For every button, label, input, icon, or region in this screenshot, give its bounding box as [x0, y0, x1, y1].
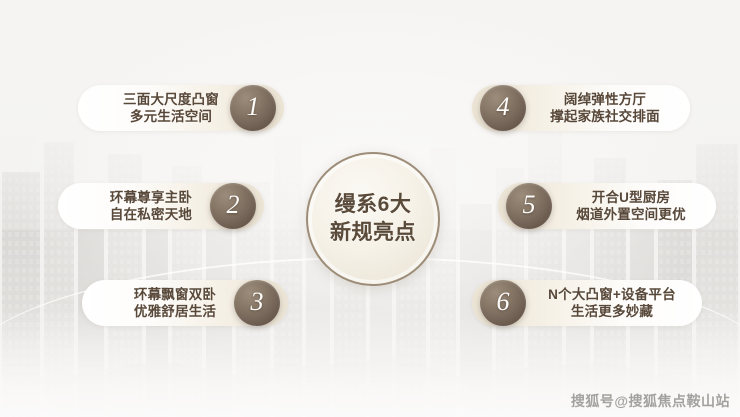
feature-number-5: 5 [523, 192, 536, 220]
feature-line1-6: N个大凸窗+设备平台 [548, 286, 676, 303]
feature-text-2: 环幕尊享主卧 自在私密天地 [84, 183, 218, 229]
feature-line2-4: 撑起家族社交排面 [550, 108, 660, 125]
feature-item-1: 三面大尺度凸窗 多元生活空间 1 [78, 85, 284, 131]
feature-line1-1: 三面大尺度凸窗 [123, 91, 219, 108]
feature-badge-5: 5 [506, 183, 552, 229]
feature-line2-1: 多元生活空间 [130, 108, 212, 125]
feature-text-5: 开合U型厨房 烟道外置空间更优 [556, 183, 706, 229]
feature-badge-2: 2 [210, 183, 256, 229]
feature-text-1: 三面大尺度凸窗 多元生活空间 [96, 85, 246, 131]
feature-badge-4: 4 [480, 85, 526, 131]
feature-badge-6: 6 [480, 280, 526, 326]
feature-item-2: 环幕尊享主卧 自在私密天地 2 [58, 183, 264, 229]
watermark-text: 搜狐号@搜狐焦点鞍山站 [571, 391, 730, 411]
feature-line1-5: 开合U型厨房 [592, 189, 670, 206]
feature-line1-2: 环幕尊享主卧 [110, 189, 192, 206]
center-title-line1: 缦系6大 [335, 191, 412, 219]
feature-number-3: 3 [251, 289, 264, 317]
feature-item-5: 5 开合U型厨房 烟道外置空间更优 [498, 183, 716, 229]
center-medallion: 缦系6大 新规亮点 [306, 152, 440, 286]
feature-text-3: 环幕飘窗双卧 优雅舒居生活 [108, 280, 242, 326]
infographic-poster: 三面大尺度凸窗 多元生活空间 1 环幕尊享主卧 自在私密天地 2 环幕飘窗双卧 … [0, 0, 740, 417]
feature-text-4: 阔绰弹性方厅 撑起家族社交排面 [530, 85, 680, 131]
feature-badge-1: 1 [230, 85, 276, 131]
feature-item-6: 6 N个大凸窗+设备平台 生活更多妙藏 [472, 280, 702, 326]
feature-number-4: 4 [497, 94, 510, 122]
feature-line1-4: 阔绰弹性方厅 [564, 91, 646, 108]
feature-number-1: 1 [247, 94, 260, 122]
feature-line1-3: 环幕飘窗双卧 [134, 286, 216, 303]
feature-line2-2: 自在私密天地 [110, 206, 192, 223]
feature-text-6: N个大凸窗+设备平台 生活更多妙藏 [528, 280, 696, 326]
feature-number-2: 2 [227, 192, 240, 220]
center-title-line2: 新规亮点 [330, 219, 416, 247]
feature-badge-3: 3 [234, 280, 280, 326]
feature-line2-6: 生活更多妙藏 [571, 303, 653, 320]
feature-line2-5: 烟道外置空间更优 [576, 206, 686, 223]
feature-line2-3: 优雅舒居生活 [134, 303, 216, 320]
feature-number-6: 6 [497, 289, 510, 317]
feature-item-4: 4 阔绰弹性方厅 撑起家族社交排面 [472, 85, 690, 131]
feature-item-3: 环幕飘窗双卧 优雅舒居生活 3 [82, 280, 288, 326]
